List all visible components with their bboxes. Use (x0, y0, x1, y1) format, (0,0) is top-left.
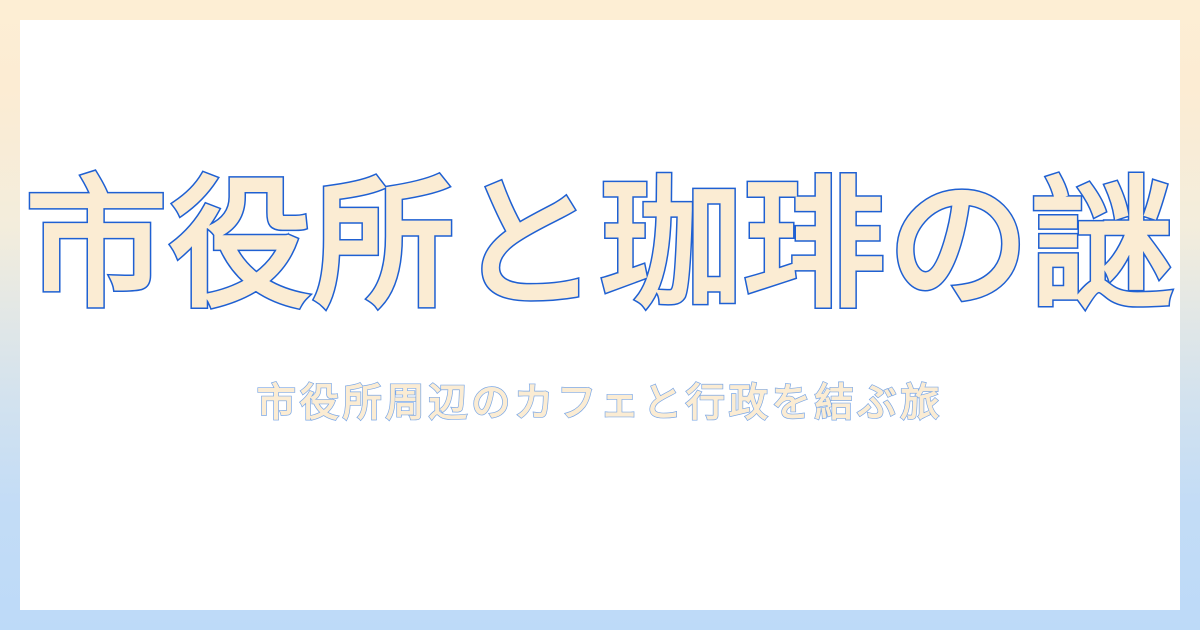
poster-title: 市役所と珈琲の謎 (25, 174, 1175, 319)
poster-subtitle: 市役所周辺のカフェと行政を結ぶ旅 (257, 381, 943, 428)
poster-frame: 市役所と珈琲の謎 市役所周辺のカフェと行政を結ぶ旅 (0, 0, 1200, 630)
poster-canvas: 市役所と珈琲の謎 市役所周辺のカフェと行政を結ぶ旅 (20, 20, 1180, 610)
poster-text-stack: 市役所と珈琲の謎 市役所周辺のカフェと行政を結ぶ旅 (20, 20, 1180, 610)
